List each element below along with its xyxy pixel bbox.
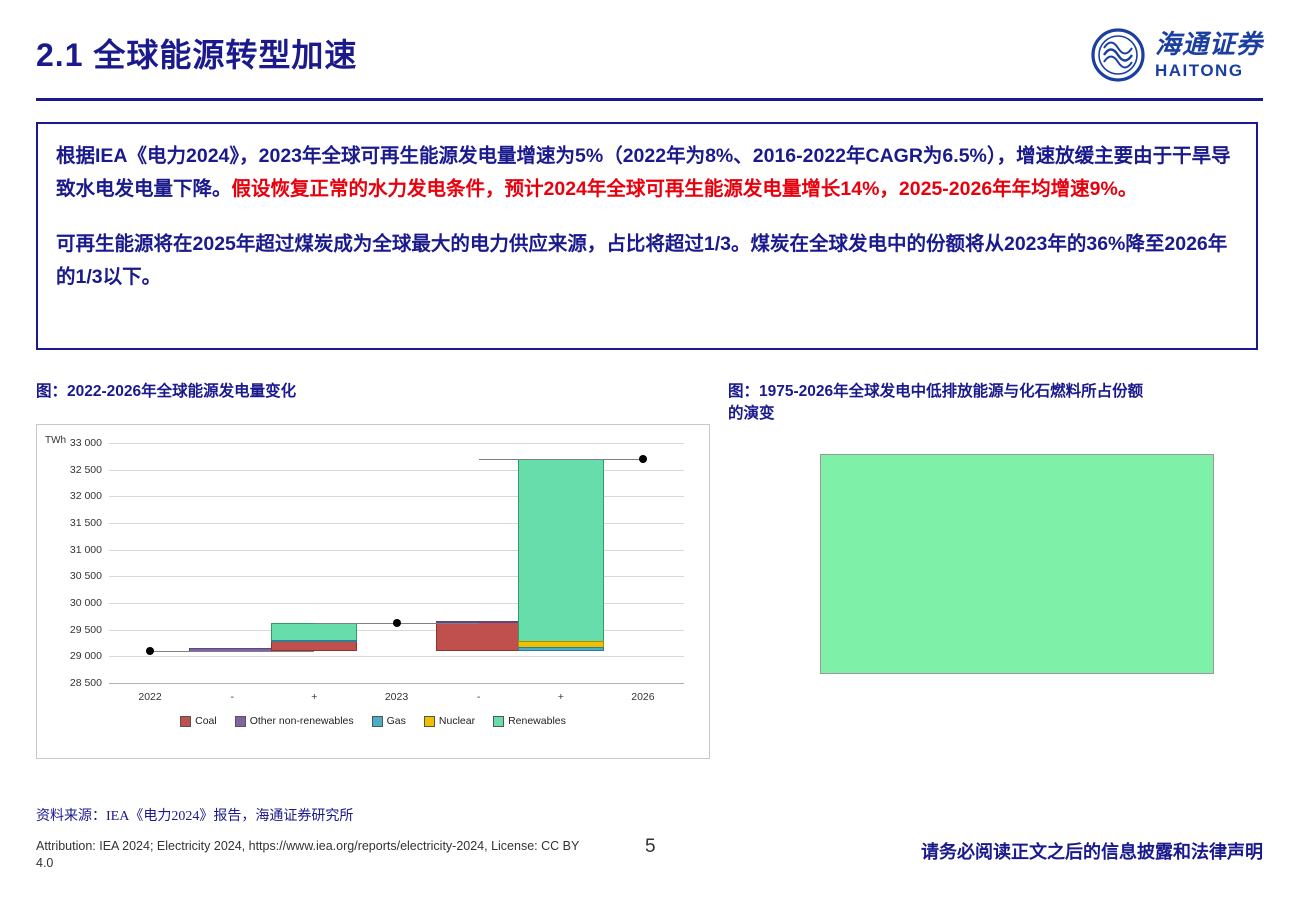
left-chart-total-marker (146, 647, 154, 655)
left-chart-connector (479, 459, 643, 460)
left-chart-y-tick: 31 000 (70, 544, 102, 556)
left-chart-y-tick: 30 500 (70, 570, 102, 582)
left-chart-x-tick: + (311, 691, 317, 703)
left-chart-x-tick: 2026 (631, 691, 654, 703)
left-chart-legend: CoalOther non-renewablesGasNuclearRenewa… (37, 715, 709, 727)
brand-logo: 海通证券 HAITONG (1091, 28, 1263, 82)
left-chart-gridline (109, 656, 684, 657)
left-chart-legend-item: Other non-renewables (235, 715, 354, 727)
page-title: 2.1 全球能源转型加速 (36, 30, 357, 76)
haitong-logo-icon (1091, 28, 1145, 82)
left-chart-x-tick: 2023 (385, 691, 408, 703)
left-chart-y-tick: 29 000 (70, 650, 102, 662)
left-chart-connector (150, 651, 314, 652)
left-chart-x-tick: 2022 (138, 691, 161, 703)
left-chart-y-tick: 32 000 (70, 490, 102, 502)
left-chart-legend-label: Coal (195, 715, 217, 727)
summary-paragraph-2: 可再生能源将在2025年超过煤炭成为全球最大的电力供应来源，占比将超过1/3。煤… (56, 228, 1238, 294)
legend-swatch-icon (235, 716, 246, 727)
left-chart-x-tick: - (230, 691, 234, 703)
legend-swatch-icon (372, 716, 383, 727)
right-figure-caption: 图：1975-2026年全球发电中低排放能源与化石燃料所占份额的演变 (728, 381, 1148, 425)
left-chart-legend-label: Other non-renewables (250, 715, 354, 727)
left-chart-legend-item: Gas (372, 715, 406, 727)
source-note: 资料来源：IEA《电力2024》报告，海通证券研究所 (36, 805, 353, 825)
left-chart-gridline (109, 683, 684, 684)
left-chart-legend-item: Nuclear (424, 715, 475, 727)
summary-box: 根据IEA《电力2024》，2023年全球可再生能源发电量增速为5%（2022年… (36, 122, 1258, 350)
left-chart-legend-label: Renewables (508, 715, 566, 727)
left-chart-y-tick: 29 500 (70, 624, 102, 636)
summary-text-red: 假设恢复正常的水力发电条件，预计2024年全球可再生能源发电量增长14%，202… (232, 178, 1138, 200)
left-chart-legend-label: Gas (387, 715, 406, 727)
left-chart-bar (271, 641, 357, 651)
logo-english-name: HAITONG (1155, 62, 1244, 79)
legend-swatch-icon (424, 716, 435, 727)
summary-paragraph-1: 根据IEA《电力2024》，2023年全球可再生能源发电量增速为5%（2022年… (56, 140, 1238, 206)
logo-chinese-name: 海通证券 (1155, 32, 1263, 58)
left-chart-total-marker (393, 619, 401, 627)
left-chart-y-tick: 32 500 (70, 464, 102, 476)
legend-swatch-icon (180, 716, 191, 727)
disclaimer-note: 请务必阅读正文之后的信息披露和法律声明 (921, 838, 1263, 864)
left-chart-bar (518, 647, 604, 651)
left-chart-legend-label: Nuclear (439, 715, 475, 727)
header-divider (36, 98, 1263, 101)
left-chart-gridline (109, 443, 684, 444)
page-number: 5 (645, 836, 656, 858)
left-chart-bar (271, 640, 357, 642)
right-chart-area (728, 440, 1258, 770)
attribution-note: Attribution: IEA 2024; Electricity 2024,… (36, 838, 596, 872)
legend-swatch-icon (493, 716, 504, 727)
left-chart-bar (518, 459, 604, 646)
left-chart-y-tick: 28 500 (70, 677, 102, 689)
left-figure-caption: 图：2022-2026年全球能源发电量变化 (36, 381, 636, 403)
left-chart-y-tick: 31 500 (70, 517, 102, 529)
left-chart-y-tick: 30 000 (70, 597, 102, 609)
left-chart-y-axis-label: TWh (45, 435, 66, 446)
right-chart-plot-area (820, 454, 1214, 674)
left-chart-x-tick: + (558, 691, 564, 703)
left-chart-bar (436, 622, 522, 651)
left-chart-y-tick: 33 000 (70, 437, 102, 449)
left-chart-legend-item: Coal (180, 715, 217, 727)
left-chart-legend-item: Renewables (493, 715, 566, 727)
left-chart-waterfall: TWh 28 50029 00029 50030 00030 50031 000… (36, 424, 710, 759)
left-chart-total-marker (639, 455, 647, 463)
left-chart-x-tick: - (477, 691, 481, 703)
left-chart-plot-area: 28 50029 00029 50030 00030 50031 00031 5… (109, 443, 684, 683)
